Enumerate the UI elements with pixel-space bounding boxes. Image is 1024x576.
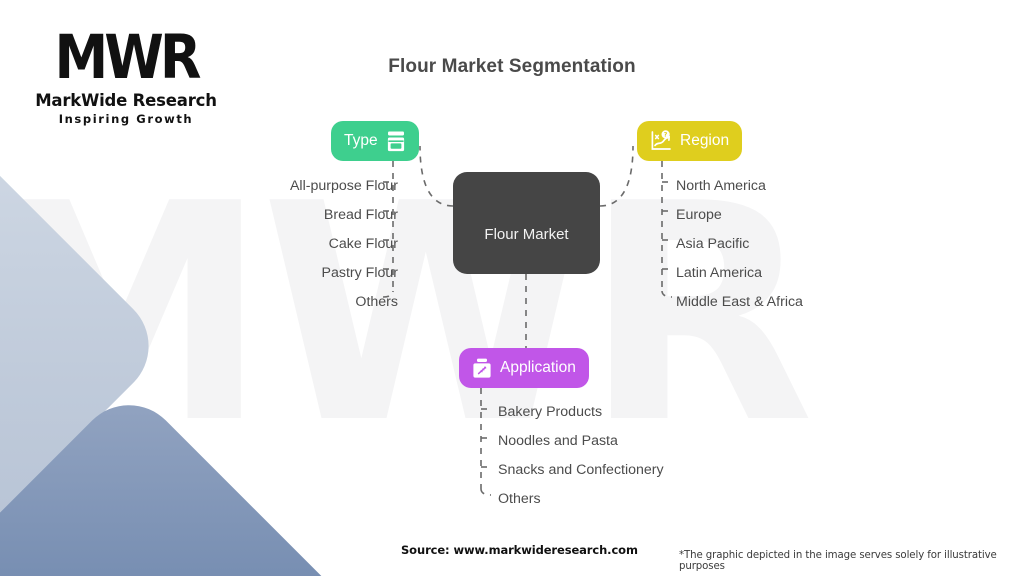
branch-label-type: Type (344, 132, 378, 150)
tick-region-4 (662, 291, 672, 297)
jar-wheat-icon (472, 357, 492, 379)
list-item[interactable]: Latin America (676, 259, 803, 288)
list-item[interactable]: Pastry Flour (150, 259, 398, 288)
list-item[interactable]: Europe (676, 201, 803, 230)
list-item[interactable]: Bread Flour (150, 201, 398, 230)
branch-label-application: Application (500, 359, 576, 377)
central-node[interactable]: Flour Market (453, 172, 600, 274)
list-item[interactable]: Snacks and Confectionery (498, 456, 664, 485)
branch-badge-region[interactable]: ? Region (637, 121, 742, 161)
source-note: Source: www.markwideresearch.com (401, 543, 638, 557)
list-item[interactable]: Middle East & Africa (676, 288, 803, 317)
branch-badge-type[interactable]: Type (331, 121, 419, 161)
chart-question-icon: ? (650, 130, 672, 152)
edge-center-to-region (600, 146, 633, 206)
flour-jar-icon (386, 130, 406, 152)
list-item[interactable]: Others (150, 288, 398, 317)
list-item[interactable]: Cake Flour (150, 230, 398, 259)
list-item[interactable]: Noodles and Pasta (498, 427, 664, 456)
tick-application-3 (481, 489, 491, 495)
svg-text:?: ? (664, 132, 668, 139)
branch-label-region: Region (680, 132, 729, 150)
branch-items-application: Bakery Products Noodles and Pasta Snacks… (498, 398, 664, 514)
branch-items-type: All-purpose Flour Bread Flour Cake Flour… (150, 172, 398, 317)
disclaimer-note: *The graphic depicted in the image serve… (679, 550, 1024, 572)
branch-badge-application[interactable]: Application (459, 348, 589, 388)
list-item[interactable]: All-purpose Flour (150, 172, 398, 201)
list-item[interactable]: Asia Pacific (676, 230, 803, 259)
edge-center-to-type (420, 146, 453, 206)
central-node-label: Flour Market (484, 226, 568, 243)
list-item[interactable]: North America (676, 172, 803, 201)
list-item[interactable]: Others (498, 485, 664, 514)
list-item[interactable]: Bakery Products (498, 398, 664, 427)
branch-items-region: North America Europe Asia Pacific Latin … (676, 172, 803, 317)
